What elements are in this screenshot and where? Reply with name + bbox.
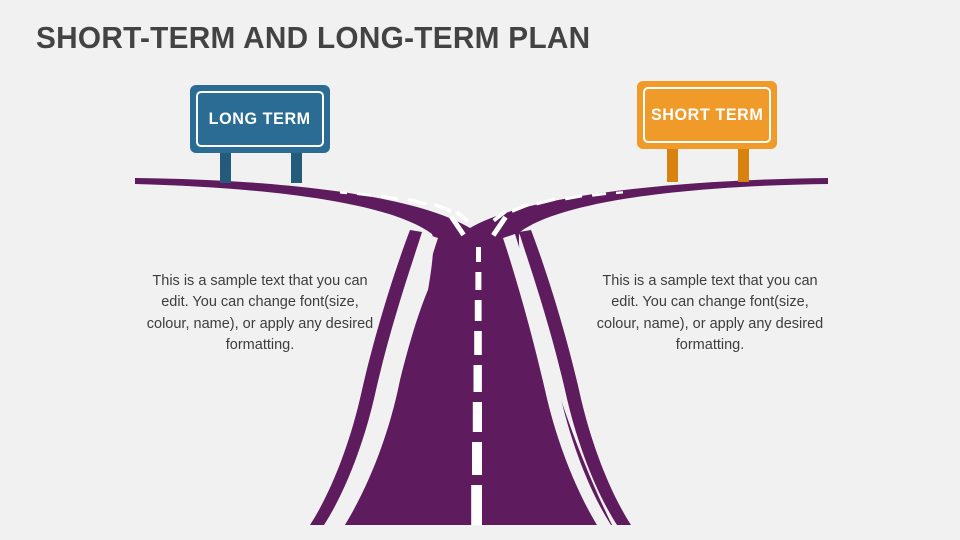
- sign-post-right: [738, 149, 749, 182]
- sign-board[interactable]: SHORT TERM: [637, 81, 777, 149]
- slide-canvas: SHORT-TERM AND LONG-TERM PLAN: [0, 0, 960, 540]
- sign-short-term[interactable]: SHORT TERM: [637, 81, 777, 149]
- sign-label: SHORT TERM: [651, 105, 763, 125]
- sign-post-left: [667, 149, 678, 182]
- body-text-left: This is a sample text that you can edit.…: [140, 271, 380, 356]
- sign-post-left: [220, 153, 231, 183]
- sign-long-term[interactable]: LONG TERM: [190, 85, 330, 153]
- sign-post-right: [291, 153, 302, 183]
- sign-label: LONG TERM: [209, 109, 311, 129]
- road-illustration: [0, 0, 960, 540]
- sign-board[interactable]: LONG TERM: [190, 85, 330, 153]
- body-text-right: This is a sample text that you can edit.…: [590, 271, 830, 356]
